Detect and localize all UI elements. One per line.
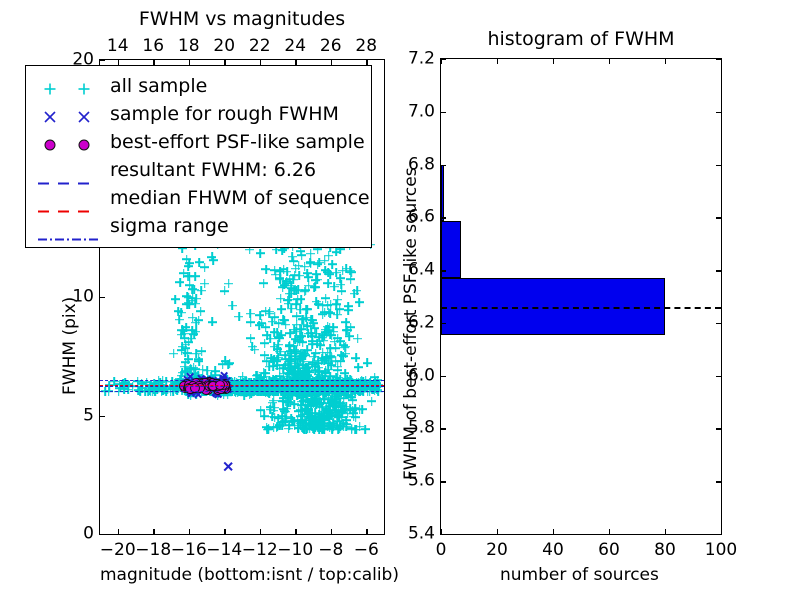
plus-marker (302, 363, 311, 372)
plus-marker (182, 300, 191, 309)
plus-marker (319, 424, 328, 433)
legend-item-label: best-effort PSF-like sample (110, 133, 365, 152)
plus-marker (203, 366, 212, 375)
plus-marker (181, 367, 190, 376)
plus-marker (280, 407, 289, 416)
plus-marker (262, 387, 271, 396)
plus-marker (322, 406, 331, 415)
plus-marker (350, 404, 359, 413)
plus-marker (261, 265, 270, 274)
plus-marker (191, 318, 200, 327)
plus-marker (351, 404, 360, 413)
plus-marker (286, 356, 295, 365)
plus-marker (186, 364, 195, 373)
plus-marker (304, 406, 313, 415)
plus-marker (285, 387, 294, 396)
plus-marker (337, 413, 346, 422)
histogram-xtick-label: 20 (486, 542, 508, 559)
plus-marker (178, 342, 187, 351)
plus-marker (329, 400, 338, 409)
plus-marker (314, 422, 323, 431)
plus-marker (250, 387, 259, 396)
plus-marker (339, 422, 348, 431)
plus-marker (295, 271, 304, 280)
plus-marker (195, 258, 204, 267)
plus-marker (194, 357, 203, 366)
plus-marker (318, 402, 327, 411)
plus-marker (299, 421, 308, 430)
plus-marker (320, 256, 329, 265)
plus-marker (320, 395, 329, 404)
plus-marker (308, 315, 317, 324)
plus-marker (279, 265, 288, 274)
cross-marker (185, 387, 194, 396)
histogram-ytick-label: 5.6 (387, 473, 435, 490)
legend-item[interactable]: best-effort PSF-like sample (26, 128, 371, 156)
plus-marker (311, 422, 320, 431)
plus-marker (255, 311, 264, 320)
plus-marker (300, 373, 309, 382)
plus-marker (280, 416, 289, 425)
plus-marker (358, 405, 367, 414)
plus-marker (230, 387, 239, 396)
plus-marker (242, 387, 251, 396)
plus-marker (341, 342, 350, 351)
plus-marker (352, 286, 361, 295)
plus-marker (323, 408, 332, 417)
legend-marker-plus-marker (32, 73, 104, 99)
plus-marker (354, 363, 363, 372)
plus-marker (279, 364, 288, 373)
plus-marker (303, 345, 312, 354)
scatter-xlabel: magnitude (bottom:isnt / top:calib) (100, 567, 399, 584)
plus-marker (294, 261, 303, 270)
histogram-xtick (721, 529, 722, 534)
plus-marker (275, 364, 284, 373)
plus-marker (348, 393, 356, 401)
plus-marker (207, 388, 215, 396)
plus-marker (284, 299, 293, 308)
plus-marker (214, 387, 223, 396)
plus-marker (146, 387, 155, 396)
histogram-xtick-top (721, 59, 722, 64)
plus-marker (279, 315, 288, 324)
legend-item-label: all sample (110, 77, 207, 96)
plus-marker (260, 339, 269, 348)
plus-marker (259, 387, 268, 396)
histogram-ytick-right (716, 428, 721, 429)
plus-marker (329, 323, 338, 332)
histogram-data-area (441, 59, 721, 534)
scatter-ytick (100, 297, 105, 298)
plus-marker (305, 398, 314, 407)
plus-marker (326, 309, 335, 318)
plus-marker (301, 351, 310, 360)
plus-marker (313, 260, 322, 269)
plus-marker (346, 275, 355, 284)
plus-marker (192, 391, 200, 399)
plus-marker (334, 402, 343, 411)
plus-marker (303, 424, 312, 433)
plus-marker (184, 262, 193, 271)
plus-marker (307, 398, 316, 407)
plus-marker (198, 365, 207, 374)
plus-marker (150, 387, 159, 396)
plus-marker (278, 421, 287, 430)
plus-marker (287, 304, 296, 313)
plus-marker (282, 404, 291, 413)
plus-marker (304, 363, 313, 372)
plus-marker (311, 282, 320, 291)
plus-marker (303, 405, 312, 414)
plus-marker (328, 405, 337, 414)
plus-marker (297, 370, 306, 379)
plus-marker (302, 363, 311, 372)
plus-marker (297, 332, 306, 341)
plus-marker (324, 411, 333, 420)
plus-marker (305, 421, 314, 430)
plus-marker (289, 374, 297, 382)
plus-marker (300, 262, 309, 271)
histogram-xtick (553, 529, 554, 534)
plus-marker (269, 406, 278, 415)
plus-marker (259, 387, 268, 396)
plus-marker (282, 279, 291, 288)
plus-marker (322, 328, 331, 337)
plus-marker (337, 406, 346, 415)
plus-marker (246, 391, 254, 399)
dashed-line-icon (38, 170, 98, 172)
plus-marker (308, 422, 317, 431)
histogram-ytick-right (716, 481, 721, 482)
plus-marker (266, 334, 275, 343)
plus-marker (317, 421, 326, 430)
scatter-ytick-label: 0 (48, 526, 94, 543)
plus-marker (306, 409, 315, 418)
plus-marker (293, 391, 302, 400)
plus-marker (311, 408, 320, 417)
plus-marker (303, 269, 312, 278)
plus-marker (284, 391, 293, 400)
plus-marker (341, 349, 350, 358)
plus-marker (323, 408, 332, 417)
plus-marker (318, 424, 327, 433)
plus-marker (308, 414, 317, 423)
plus-marker (256, 406, 265, 415)
plus-marker (311, 412, 320, 421)
plus-marker (296, 349, 305, 358)
plus-marker (299, 315, 308, 324)
plus-marker (280, 316, 289, 325)
plus-marker (181, 348, 190, 357)
plus-marker (315, 410, 324, 419)
legend-marker-dashed-line (32, 157, 104, 183)
plus-marker (171, 295, 180, 304)
plus-marker (340, 343, 349, 352)
plus-marker (303, 410, 312, 419)
plus-marker (305, 424, 314, 433)
plus-marker (281, 355, 290, 364)
plus-marker (311, 392, 320, 401)
plus-marker (309, 415, 318, 424)
plus-marker (325, 323, 334, 332)
plus-marker (200, 263, 209, 272)
plus-marker (332, 300, 341, 309)
plus-marker (333, 387, 342, 396)
plus-marker (300, 367, 309, 376)
plus-marker (289, 341, 298, 350)
plus-marker (292, 391, 301, 400)
histogram-xtick-top (609, 59, 610, 64)
plus-marker (292, 320, 301, 329)
plus-marker (289, 417, 298, 426)
plus-marker (276, 421, 285, 430)
plus-marker (190, 285, 199, 294)
plus-marker (289, 275, 298, 284)
cross-icon (78, 108, 90, 120)
plus-marker (294, 386, 302, 394)
legend-item[interactable]: resultant FWHM: 6.26 (26, 156, 371, 184)
plus-marker (321, 325, 330, 334)
plus-marker (359, 387, 368, 396)
plus-marker (307, 401, 316, 410)
plus-marker (321, 368, 330, 377)
plus-marker (288, 392, 296, 400)
plus-marker (308, 360, 317, 369)
legend-item[interactable]: sample for rough FWHM (26, 100, 371, 128)
plus-marker (282, 277, 291, 286)
plus-marker (348, 396, 357, 405)
plus-marker (310, 425, 319, 434)
plus-marker (315, 413, 324, 422)
plus-marker (309, 424, 318, 433)
plus-marker (299, 320, 308, 329)
plus-marker (250, 345, 259, 354)
plus-marker (301, 367, 310, 376)
plus-marker (298, 410, 307, 419)
legend-item[interactable]: all sample (26, 72, 371, 100)
plus-marker (355, 388, 363, 396)
plus-marker (285, 421, 294, 430)
plus-marker (282, 412, 291, 421)
plus-marker (317, 415, 326, 424)
plus-icon (44, 80, 56, 92)
plus-marker (300, 425, 309, 434)
plus-marker (315, 419, 324, 428)
plus-marker (328, 419, 337, 428)
plus-marker (281, 361, 290, 370)
plus-marker (367, 397, 376, 406)
plus-marker (246, 334, 255, 343)
plus-marker (308, 337, 317, 346)
plus-marker (267, 354, 276, 363)
plus-marker (325, 419, 334, 428)
resultant-fwhm-line (100, 386, 384, 387)
plus-marker (298, 352, 307, 361)
plus-marker (265, 309, 274, 318)
plus-marker (274, 387, 283, 396)
histogram-xtick-label: 0 (436, 542, 447, 559)
plus-marker (296, 331, 305, 340)
plus-marker (290, 271, 299, 280)
plus-marker (150, 387, 159, 396)
plus-marker (301, 400, 310, 409)
plus-marker (259, 279, 268, 288)
histogram-ytick (441, 428, 446, 429)
plus-marker (318, 411, 327, 420)
plus-marker (304, 273, 313, 282)
legend-item[interactable]: median FHWM of sequence (26, 184, 371, 212)
plus-marker (269, 362, 278, 371)
plus-marker (279, 405, 288, 414)
plus-marker (198, 388, 206, 396)
plus-marker (347, 424, 356, 433)
plus-marker (332, 300, 341, 309)
plus-marker (296, 417, 305, 426)
plus-marker (304, 388, 313, 397)
plus-marker (333, 310, 342, 319)
plus-marker (338, 387, 347, 396)
plus-marker (293, 373, 302, 382)
plus-marker (313, 388, 322, 397)
histogram-ytick (441, 217, 446, 218)
plus-marker (275, 421, 284, 430)
plus-marker (257, 387, 266, 396)
plus-marker (309, 399, 318, 408)
scatter-xtick-top-label: 22 (249, 38, 271, 55)
plus-marker (306, 249, 315, 258)
plus-marker (260, 351, 269, 360)
plus-marker (333, 295, 342, 304)
scatter-xtick-bottom (189, 529, 190, 534)
plus-marker (232, 386, 240, 394)
plus-marker (262, 357, 271, 366)
plus-marker (328, 422, 337, 431)
plus-marker (296, 247, 305, 256)
histogram-xtick-label: 100 (705, 542, 737, 559)
plus-marker (187, 334, 196, 343)
plus-marker (183, 368, 192, 377)
plus-marker (310, 388, 319, 397)
plus-marker (298, 361, 307, 370)
plus-marker (324, 325, 333, 334)
plus-marker (331, 393, 340, 402)
plus-marker (341, 318, 350, 327)
plus-marker (187, 365, 196, 374)
histogram-ytick-label: 6.6 (387, 209, 435, 226)
plus-marker (325, 423, 334, 432)
plus-marker (192, 294, 201, 303)
plus-marker (337, 407, 346, 416)
plus-marker (297, 418, 306, 427)
plus-marker (295, 333, 304, 342)
plus-marker (363, 358, 372, 367)
plus-marker (305, 412, 314, 421)
plus-marker (321, 353, 330, 362)
plus-marker (320, 416, 329, 425)
plus-marker (315, 399, 324, 408)
legend-item[interactable]: sigma range (26, 212, 371, 240)
scatter-xtick-top-label: 18 (178, 38, 200, 55)
cross-marker (194, 390, 203, 399)
plus-marker (289, 257, 298, 266)
plus-marker (344, 302, 353, 311)
plus-marker (275, 347, 284, 356)
plus-marker (289, 325, 298, 334)
plus-marker (293, 295, 302, 304)
plus-marker (287, 284, 296, 293)
plus-marker (314, 333, 323, 342)
plus-marker (365, 387, 374, 396)
plus-marker (272, 423, 281, 432)
plus-marker (326, 410, 335, 419)
scatter-ytick-label: 5 (48, 407, 94, 424)
legend-marker-dashed-line (32, 185, 104, 211)
dashed-line-icon (38, 198, 98, 200)
plus-marker (268, 317, 277, 326)
plus-marker (299, 361, 308, 370)
plus-marker (336, 422, 345, 431)
plus-marker (189, 387, 198, 396)
plus-marker (191, 327, 200, 336)
plus-marker (184, 337, 193, 346)
plus-marker (351, 413, 360, 422)
plus-marker (301, 405, 310, 414)
plus-marker (303, 305, 312, 314)
plus-marker (334, 387, 343, 396)
plus-marker (318, 310, 327, 319)
plus-marker (326, 421, 335, 430)
plus-marker (341, 385, 349, 393)
plus-marker (277, 330, 286, 339)
scatter-xtick-top-label: 20 (213, 38, 235, 55)
plus-marker (318, 348, 327, 357)
plus-marker (220, 286, 229, 295)
histogram-xlabel: number of sources (500, 567, 659, 584)
plus-marker (264, 387, 273, 396)
plus-marker (185, 388, 193, 396)
plus-marker (311, 395, 320, 404)
plus-marker (306, 400, 315, 409)
plus-marker (298, 315, 307, 324)
plus-marker (309, 387, 318, 396)
plus-marker (319, 414, 328, 423)
plus-marker (273, 387, 282, 396)
plus-marker (318, 421, 327, 430)
plus-marker (182, 255, 191, 264)
plus-marker (338, 401, 347, 410)
scatter-xtick-top-label: 16 (142, 38, 164, 55)
plus-marker (322, 412, 331, 421)
plus-marker (269, 423, 278, 432)
plus-marker (298, 415, 307, 424)
plus-marker (320, 331, 329, 340)
plus-marker (321, 366, 330, 375)
plus-marker (331, 394, 340, 403)
plus-marker (279, 394, 288, 403)
plus-marker (297, 349, 306, 358)
plus-marker (257, 319, 266, 328)
plus-marker (306, 421, 315, 430)
histogram-ytick-right (716, 165, 721, 166)
plus-marker (292, 312, 301, 321)
plus-marker (180, 362, 189, 371)
plus-marker (162, 387, 171, 396)
plus-marker (288, 416, 297, 425)
plus-marker (290, 361, 299, 370)
plus-marker (294, 367, 303, 376)
plus-marker (349, 412, 358, 421)
